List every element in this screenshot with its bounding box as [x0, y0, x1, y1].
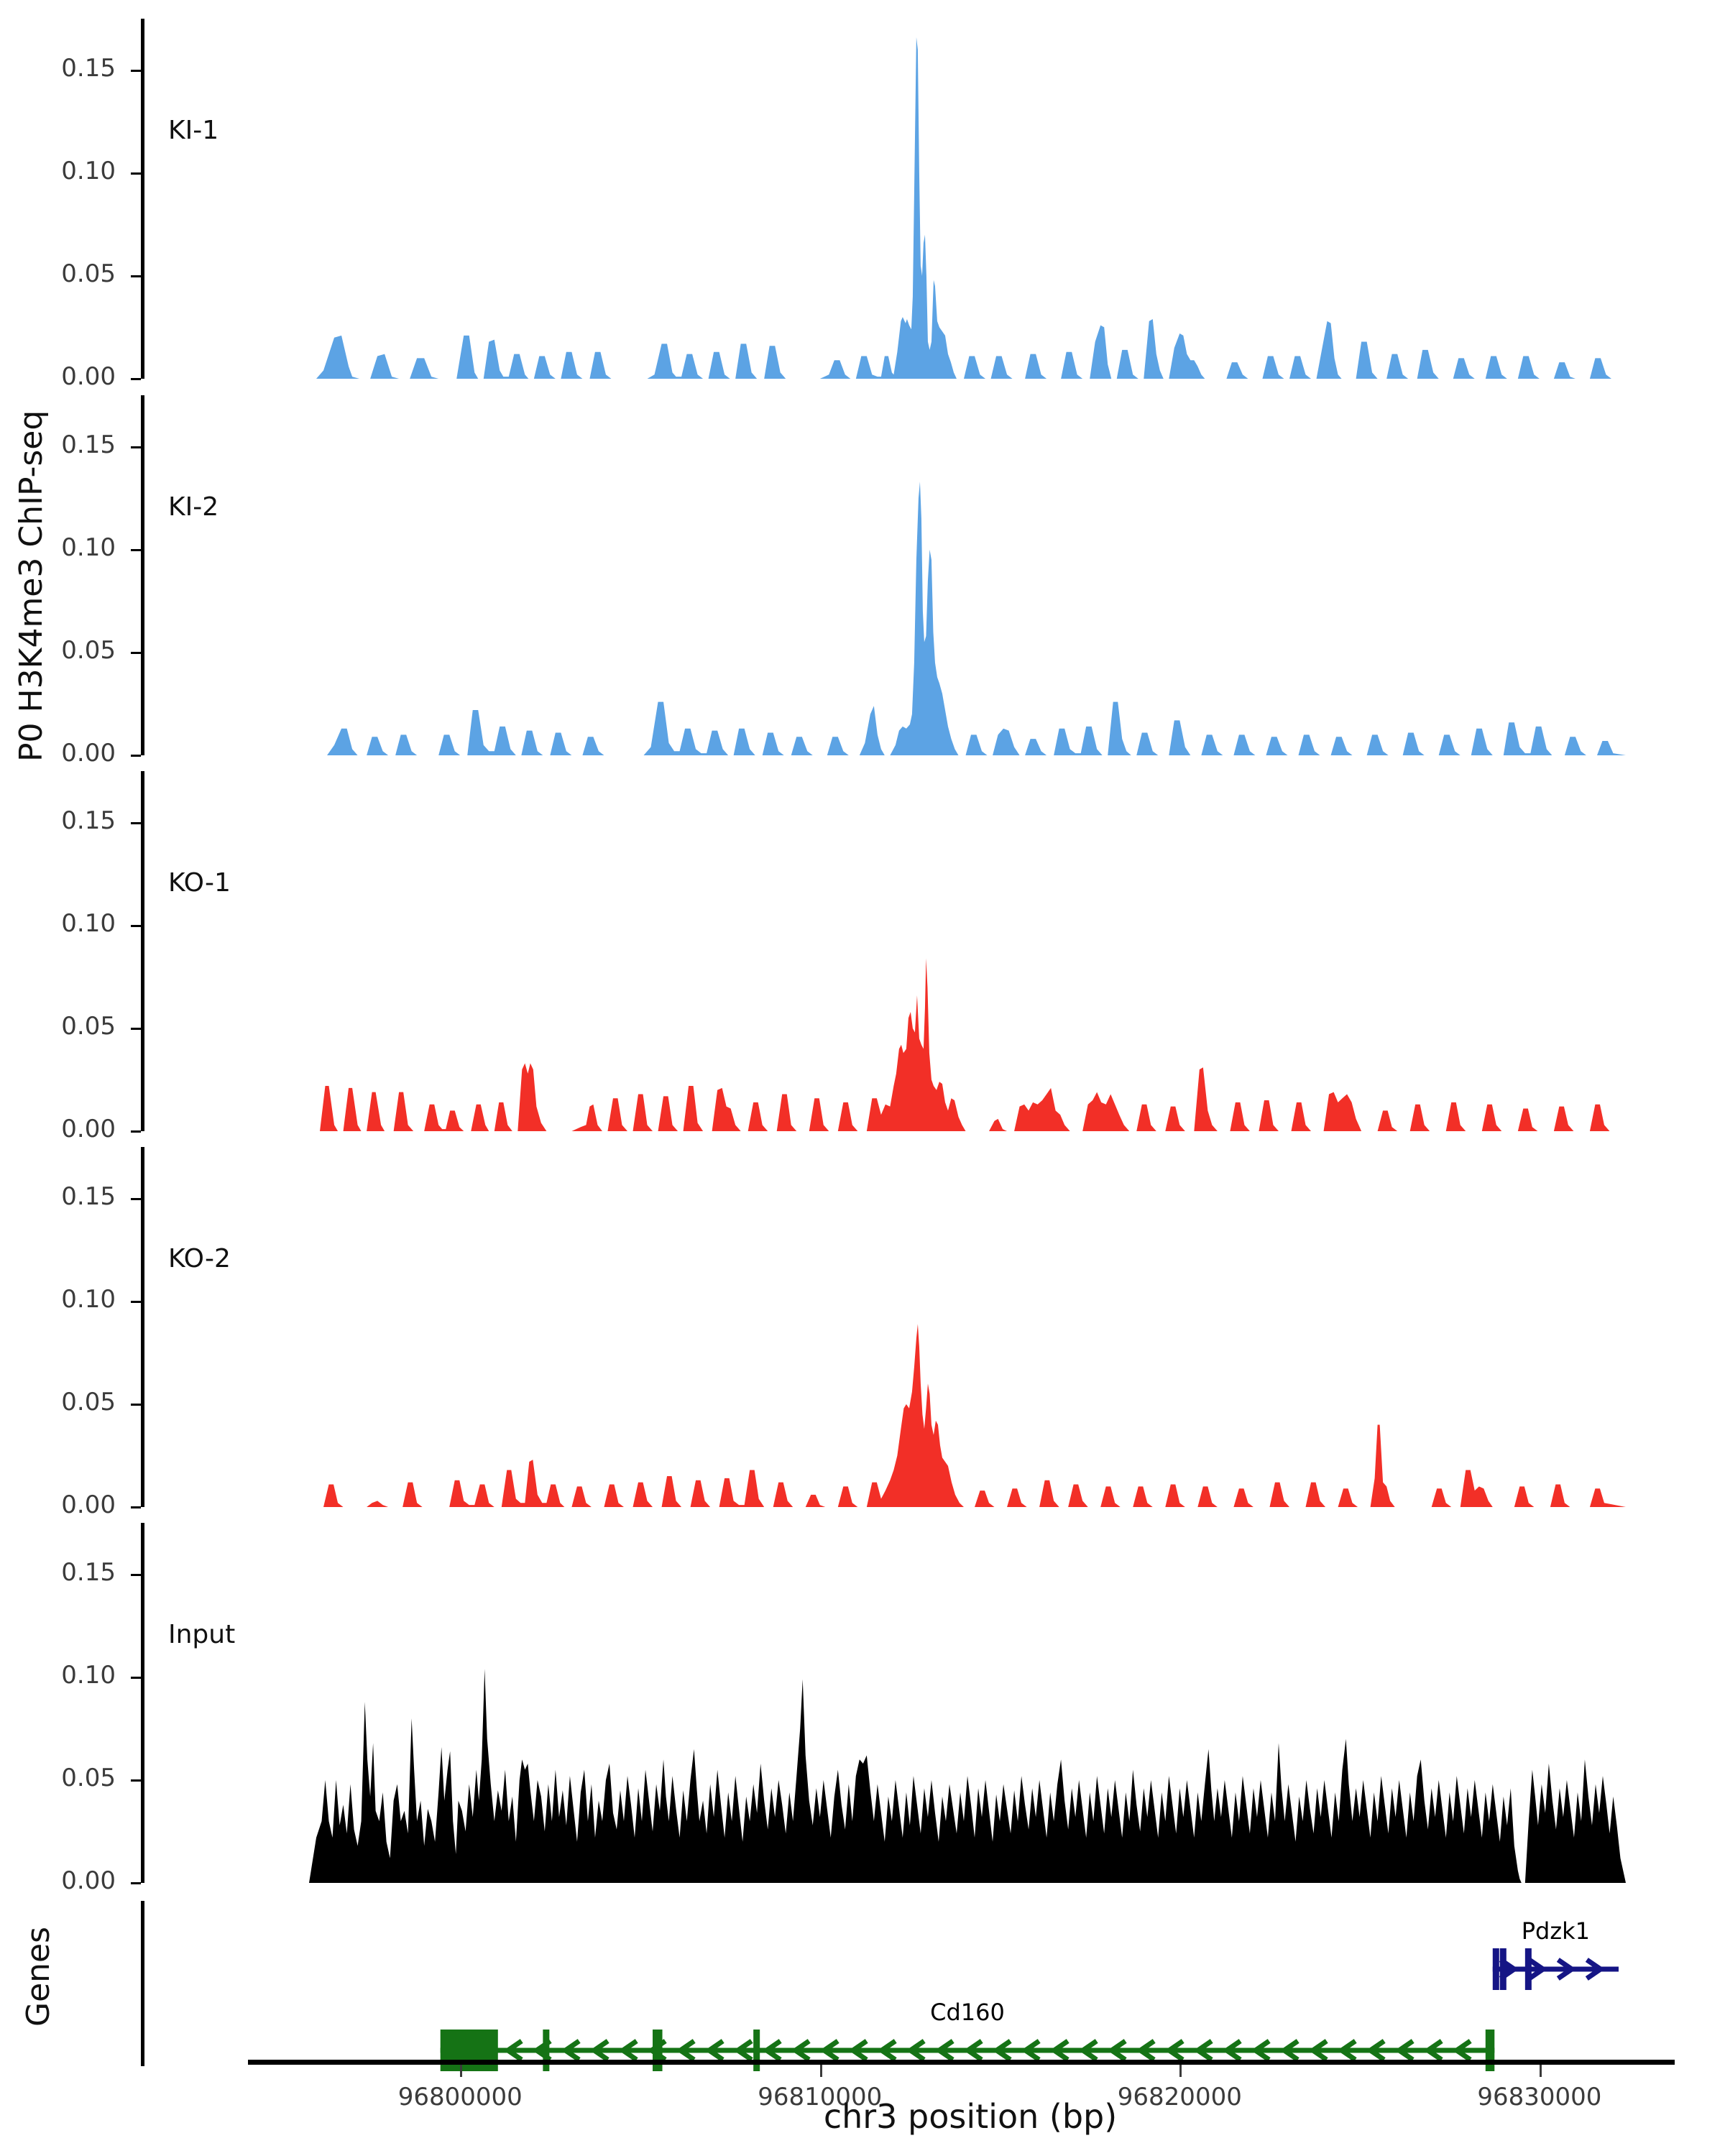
exon-block [753, 2030, 760, 2071]
signal-track-ko-2 [0, 1147, 1725, 1507]
signal-area [309, 1669, 1626, 1883]
x-tick [1540, 2065, 1542, 2077]
signal-track-input [0, 1523, 1725, 1883]
signal-track-ko-1 [0, 771, 1725, 1131]
x-axis-line [248, 2060, 1675, 2065]
exon-block [1486, 2030, 1495, 2071]
x-tick [820, 2065, 822, 2077]
signal-track-ki-1 [0, 19, 1725, 379]
x-tick [1179, 2065, 1182, 2077]
x-axis-title: chr3 position (bp) [755, 2097, 1186, 2136]
signal-area [309, 959, 1626, 1131]
x-tick-label: 96800000 [338, 2083, 582, 2111]
exon-block [1525, 1948, 1532, 1990]
x-tick-label: 96830000 [1417, 2083, 1662, 2111]
exon-block [653, 2030, 663, 2071]
x-tick [460, 2065, 462, 2077]
signal-area [309, 37, 1626, 379]
exon-block [441, 2030, 498, 2071]
signal-area [309, 1324, 1626, 1507]
gene-model-pdzk1[interactable] [1493, 1948, 1619, 1990]
signal-track-ki-2 [0, 395, 1725, 755]
exon-block [543, 2030, 549, 2071]
exon-block [1493, 1948, 1499, 1990]
figure-root: P0 H3K4me3 ChIP-seq Genes 0.000.050.100.… [0, 0, 1725, 2156]
exon-block [1500, 1948, 1506, 1990]
signal-area [309, 482, 1626, 755]
gene-model-cd160[interactable] [441, 2030, 1495, 2071]
